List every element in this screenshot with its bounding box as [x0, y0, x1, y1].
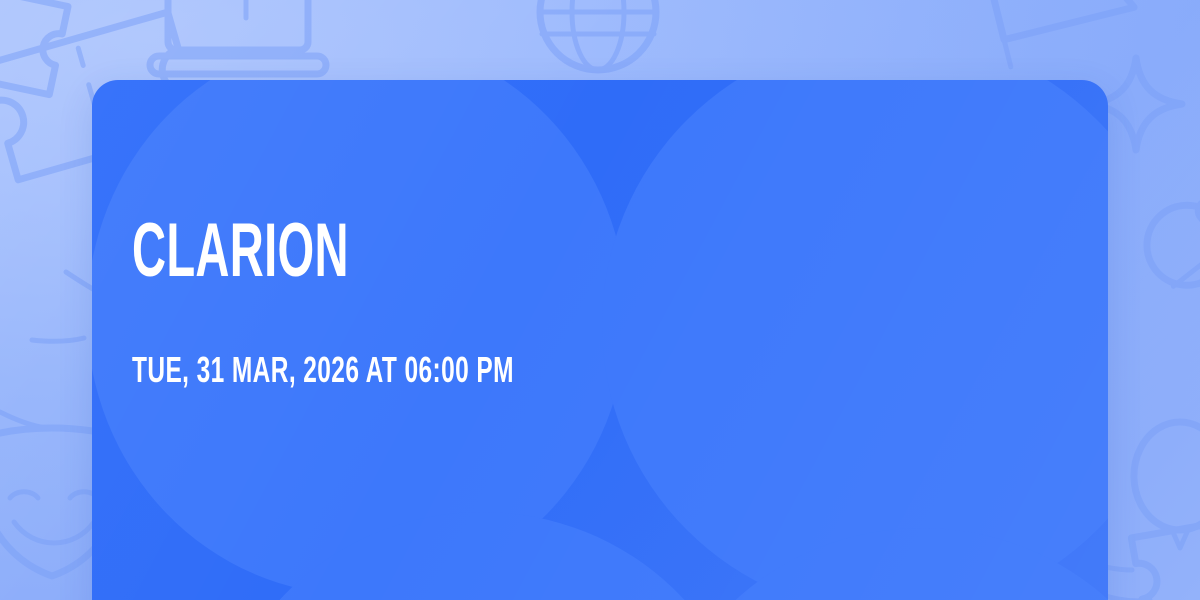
event-card[interactable]: CLARION TUE, 31 MAR, 2026 AT 06:00 PM — [92, 80, 1108, 600]
microphone-icon — [1131, 160, 1200, 325]
event-card-canvas: CLARION TUE, 31 MAR, 2026 AT 06:00 PM — [0, 0, 1200, 600]
event-datetime: TUE, 31 MAR, 2026 AT 06:00 PM — [132, 352, 514, 388]
confetti-streak-icon — [0, 272, 102, 428]
flag-icon — [984, 0, 1186, 67]
event-title: CLARION — [132, 213, 349, 289]
globe-icon — [540, 0, 656, 70]
card-content: CLARION TUE, 31 MAR, 2026 AT 06:00 PM — [132, 80, 1012, 600]
